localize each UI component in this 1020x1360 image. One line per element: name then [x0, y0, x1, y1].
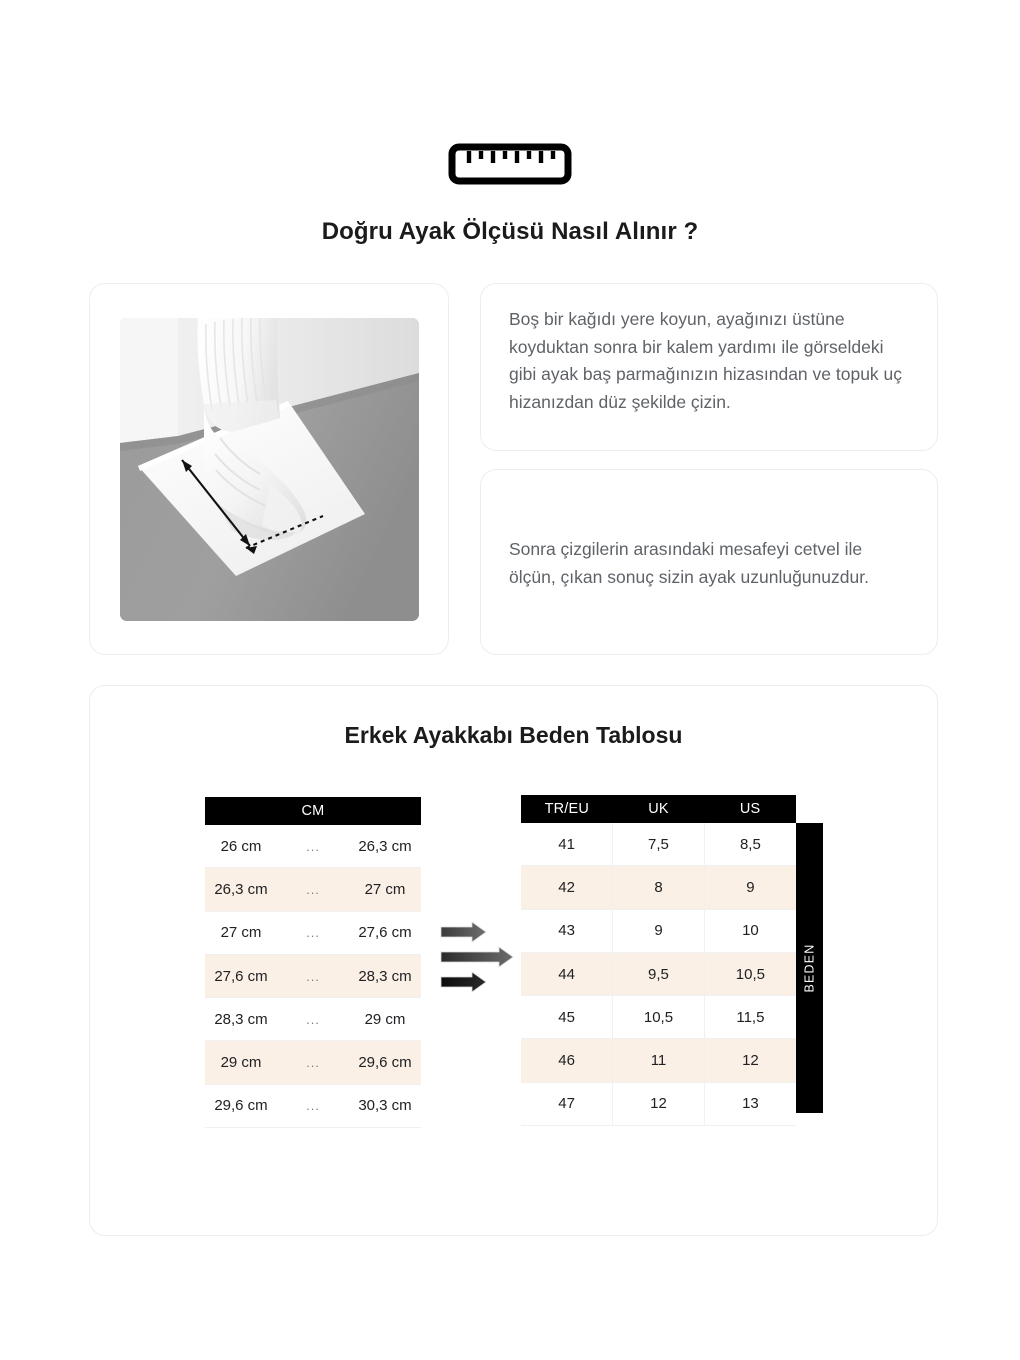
arrow-right-icon — [441, 972, 486, 992]
cm-high: 29 cm — [349, 998, 421, 1041]
cm-low: 27 cm — [205, 911, 277, 954]
cm-high: 26,3 cm — [349, 825, 421, 868]
cm-high: 29,6 cm — [349, 1041, 421, 1084]
size-us: 10,5 — [704, 952, 796, 995]
size-us: 12 — [704, 1039, 796, 1082]
ruler-icon — [448, 143, 572, 185]
cm-low: 28,3 cm — [205, 998, 277, 1041]
table-row: 41 7,5 8,5 — [521, 823, 796, 866]
size-uk: 9 — [613, 909, 705, 952]
instruction-text-1: Boş bir kağıdı yere koyun, ayağınızı üst… — [509, 306, 909, 417]
size-table-header-row: TR/EU UK US — [521, 795, 796, 823]
beden-side-label-text: BEDEN — [803, 943, 817, 992]
cm-sep: ... — [277, 911, 349, 954]
size-chart-title: Erkek Ayakkabı Beden Tablosu — [90, 722, 937, 749]
size-treu: 43 — [521, 909, 613, 952]
shoe-size-table: TR/EU UK US 41 7,5 8,5 42 8 9 43 — [521, 795, 796, 1126]
table-row: 28,3 cm ... 29 cm — [205, 998, 421, 1041]
cm-range-table: CM 26 cm ... 26,3 cm 26,3 cm ... 27 cm 2… — [205, 797, 421, 1128]
foot-photo-card — [89, 283, 449, 655]
table-row: 45 10,5 11,5 — [521, 996, 796, 1039]
cm-low: 26 cm — [205, 825, 277, 868]
cm-table-header: CM — [205, 797, 421, 825]
cm-sep: ... — [277, 868, 349, 911]
size-uk: 9,5 — [613, 952, 705, 995]
cm-sep: ... — [277, 1084, 349, 1127]
size-us: 10 — [704, 909, 796, 952]
size-uk: 7,5 — [613, 823, 705, 866]
cm-low: 27,6 cm — [205, 954, 277, 997]
cm-sep: ... — [277, 954, 349, 997]
size-treu: 44 — [521, 952, 613, 995]
cm-low: 26,3 cm — [205, 868, 277, 911]
instruction-card-2: Sonra çizgilerin arasındaki mesafeyi cet… — [480, 469, 938, 655]
beden-side-label: BEDEN — [796, 823, 823, 1113]
cm-high: 27 cm — [349, 868, 421, 911]
table-row: 47 12 13 — [521, 1082, 796, 1125]
size-treu: 45 — [521, 996, 613, 1039]
conversion-arrows — [439, 922, 517, 1002]
cm-sep: ... — [277, 825, 349, 868]
table-row: 27 cm ... 27,6 cm — [205, 911, 421, 954]
size-us: 9 — [704, 866, 796, 909]
size-uk: 11 — [613, 1039, 705, 1082]
ruler-icon-wrapper — [0, 143, 1020, 185]
size-uk: 8 — [613, 866, 705, 909]
cm-low: 29 cm — [205, 1041, 277, 1084]
size-us: 11,5 — [704, 996, 796, 1039]
size-table-header-treu: TR/EU — [521, 795, 613, 823]
size-uk: 12 — [613, 1082, 705, 1125]
arrow-right-icon — [441, 947, 513, 967]
size-table-header-uk: UK — [613, 795, 705, 823]
size-us: 8,5 — [704, 823, 796, 866]
cm-high: 30,3 cm — [349, 1084, 421, 1127]
cm-sep: ... — [277, 998, 349, 1041]
table-row: 26 cm ... 26,3 cm — [205, 825, 421, 868]
instruction-text-2: Sonra çizgilerin arasındaki mesafeyi cet… — [509, 536, 909, 591]
size-guide-page: Doğru Ayak Ölçüsü Nasıl Alınır ? — [0, 0, 1020, 1360]
size-table-header-us: US — [704, 795, 796, 823]
table-row: 46 11 12 — [521, 1039, 796, 1082]
table-row: 29,6 cm ... 30,3 cm — [205, 1084, 421, 1127]
cm-table-header-row: CM — [205, 797, 421, 825]
size-treu: 47 — [521, 1082, 613, 1125]
size-treu: 42 — [521, 866, 613, 909]
table-row: 27,6 cm ... 28,3 cm — [205, 954, 421, 997]
size-chart-card: Erkek Ayakkabı Beden Tablosu CM 26 cm ..… — [89, 685, 938, 1236]
table-row: 29 cm ... 29,6 cm — [205, 1041, 421, 1084]
table-row: 42 8 9 — [521, 866, 796, 909]
table-row: 43 9 10 — [521, 909, 796, 952]
size-treu: 41 — [521, 823, 613, 866]
foot-measurement-photo — [120, 318, 419, 621]
cm-high: 28,3 cm — [349, 954, 421, 997]
instruction-card-1: Boş bir kağıdı yere koyun, ayağınızı üst… — [480, 283, 938, 451]
cm-low: 29,6 cm — [205, 1084, 277, 1127]
table-row: 44 9,5 10,5 — [521, 952, 796, 995]
size-treu: 46 — [521, 1039, 613, 1082]
size-uk: 10,5 — [613, 996, 705, 1039]
cm-high: 27,6 cm — [349, 911, 421, 954]
arrow-right-icon — [441, 922, 486, 942]
size-us: 13 — [704, 1082, 796, 1125]
page-title: Doğru Ayak Ölçüsü Nasıl Alınır ? — [0, 218, 1020, 246]
table-row: 26,3 cm ... 27 cm — [205, 868, 421, 911]
cm-sep: ... — [277, 1041, 349, 1084]
